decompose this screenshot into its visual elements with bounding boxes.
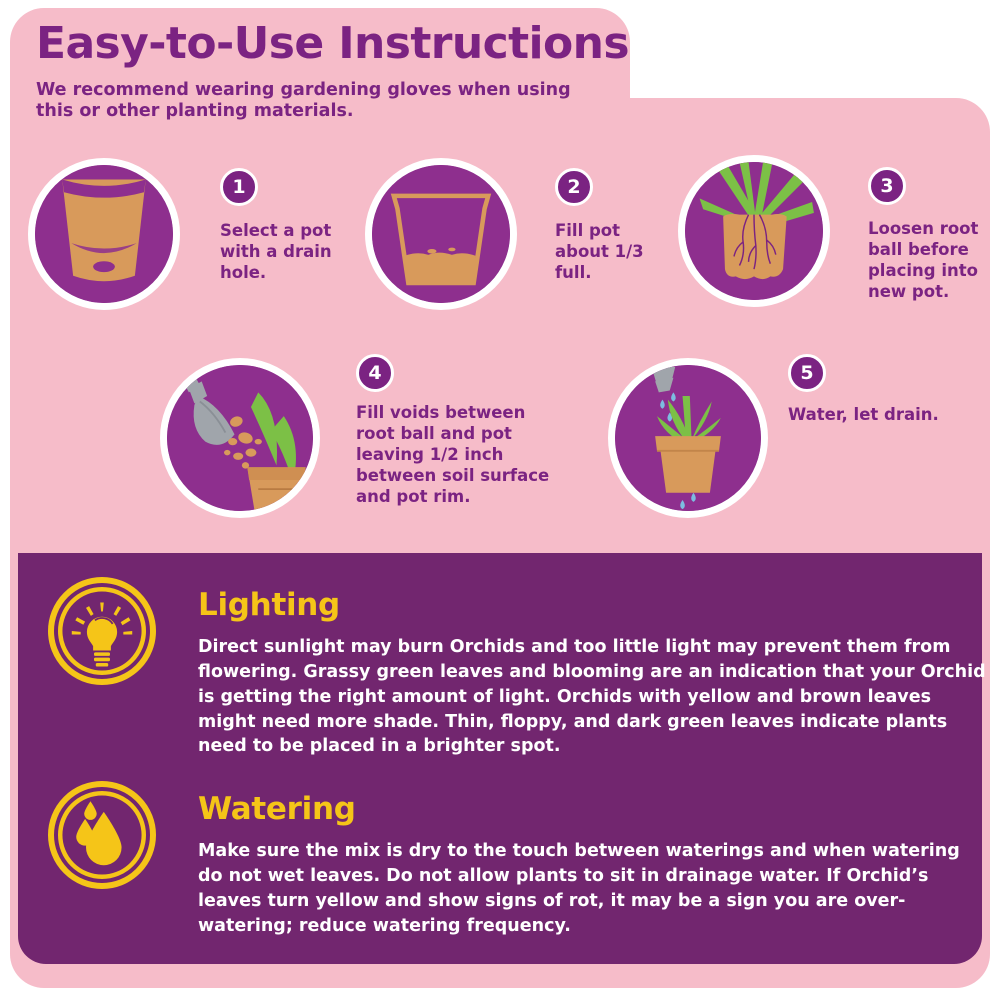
care-heading-lighting: Lighting (198, 587, 340, 623)
root-ball-icon (678, 155, 830, 307)
step-text-3: Loosen root ball before placing into new… (868, 218, 988, 302)
watering-can-plant-icon (608, 358, 768, 518)
page-subtitle: We recommend wearing gardening gloves wh… (36, 80, 596, 123)
step-4: 4 Fill voids between root ball and pot l… (160, 358, 560, 528)
step-badge-2: 2 (555, 168, 593, 206)
care-body-watering: Make sure the mix is dry to the touch be… (198, 839, 988, 938)
water-drops-icon (48, 781, 156, 889)
page-title: Easy-to-Use Instructions (36, 18, 629, 69)
pot-filled-one-third-icon (365, 158, 517, 310)
orchid-care-infographic: Easy-to-Use Instructions We recommend we… (0, 0, 1000, 1000)
step-text-5: Water, let drain. (788, 404, 968, 425)
care-body-lighting: Direct sunlight may burn Orchids and too… (198, 635, 988, 759)
step-2: 2 Fill pot about 1/3 full. (365, 158, 685, 318)
pot-with-drain-hole-icon (28, 158, 180, 310)
step-badge-1: 1 (220, 168, 258, 206)
step-badge-3: 3 (868, 167, 906, 205)
step-badge-4: 4 (356, 354, 394, 392)
step-5: 5 Water, let drain. (608, 358, 988, 528)
step-badge-5: 5 (788, 354, 826, 392)
step-text-1: Select a pot with a drain hole. (220, 220, 340, 283)
step-3: 3 Loosen root ball before placing into n… (678, 155, 978, 320)
lightbulb-icon (48, 577, 156, 685)
step-text-4: Fill voids between root ball and pot lea… (356, 402, 556, 508)
step-text-2: Fill pot about 1/3 full. (555, 220, 665, 283)
step-1: 1 Select a pot with a drain hole. (28, 158, 358, 318)
trowel-filling-soil-icon (160, 358, 320, 518)
care-panel: Lighting Direct sunlight may burn Orchid… (18, 553, 982, 964)
care-heading-watering: Watering (198, 791, 356, 827)
